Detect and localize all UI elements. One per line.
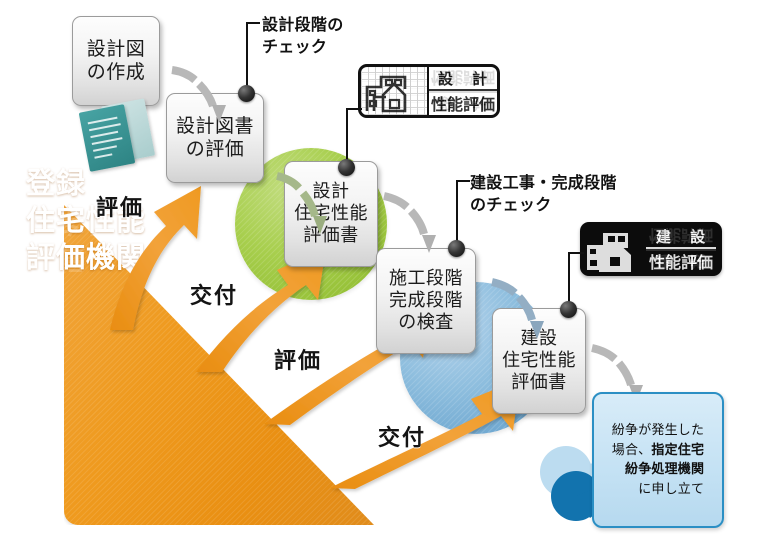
leader-line-construction-stage-check xyxy=(456,180,458,248)
leader-tick-design-badge xyxy=(346,108,362,110)
design-badge-line2: 性能評価 xyxy=(429,91,497,115)
construction-badge-house-icon xyxy=(580,222,646,276)
pin-design-stage-check xyxy=(238,85,255,102)
flow-label-evaluation-1: 評価 xyxy=(96,190,144,222)
note-line-2: 場合、指定住宅 xyxy=(612,441,704,461)
construction-performance-badge: 建 設 性能評価 建 設 性能評価 xyxy=(580,222,722,276)
callout-design-stage-check: 設計段階の チェック xyxy=(262,14,344,58)
box-design-drawing-creation[interactable]: 設計図 の作成 xyxy=(72,16,160,106)
box-design-housing-performance-report[interactable]: 設計 住宅性能 評価書 xyxy=(284,161,378,267)
note-line-3-bold: 紛争処理機関 xyxy=(625,462,704,477)
box-construction-completion-inspection[interactable]: 施工段階 完成段階 の検査 xyxy=(376,248,476,354)
box-construction-housing-performance-report[interactable]: 建設 住宅性能 評価書 xyxy=(492,308,586,414)
leader-tick-construction-badge xyxy=(568,252,584,254)
diagram-canvas: 登録 住宅性能 評価機関 登録 住宅性能 評価機関 xyxy=(0,0,770,538)
construction-badge-line1: 建 設 xyxy=(646,226,716,249)
design-performance-badge: 設 計 性能評価 設 計 性能評価 xyxy=(358,64,500,118)
note-line-2-plain: 場合、 xyxy=(612,443,652,458)
design-badge-line1: 設 計 xyxy=(429,67,497,91)
pin-construction-stage-check xyxy=(448,240,465,257)
box-design-document-evaluation[interactable]: 設計図書 の評価 xyxy=(166,93,264,183)
flow-label-evaluation-2: 評価 xyxy=(274,343,322,375)
note-line-4: に申し立て xyxy=(612,480,704,500)
note-line-2-bold: 指定住宅 xyxy=(651,443,704,458)
leader-tick-design-stage-check xyxy=(246,22,260,24)
leader-tick-construction-stage-check xyxy=(456,180,470,182)
flow-label-delivery-1: 交付 xyxy=(190,278,238,310)
design-badge-house-icon xyxy=(361,67,429,115)
dispute-note-box[interactable]: 紛争が発生した 場合、指定住宅 紛争処理機関 に申し立て xyxy=(592,392,724,528)
pin-design-badge xyxy=(338,159,355,176)
leader-line-design-stage-check xyxy=(246,22,248,94)
documents-icon xyxy=(76,100,160,184)
pin-construction-badge xyxy=(560,301,577,318)
flow-label-delivery-2: 交付 xyxy=(378,420,426,452)
note-line-3: 紛争処理機関 xyxy=(612,460,704,480)
construction-badge-line2: 性能評価 xyxy=(646,249,716,273)
callout-construction-stage-check: 建設工事・完成段階 のチェック xyxy=(470,172,617,216)
note-line-1: 紛争が発生した xyxy=(612,421,704,441)
